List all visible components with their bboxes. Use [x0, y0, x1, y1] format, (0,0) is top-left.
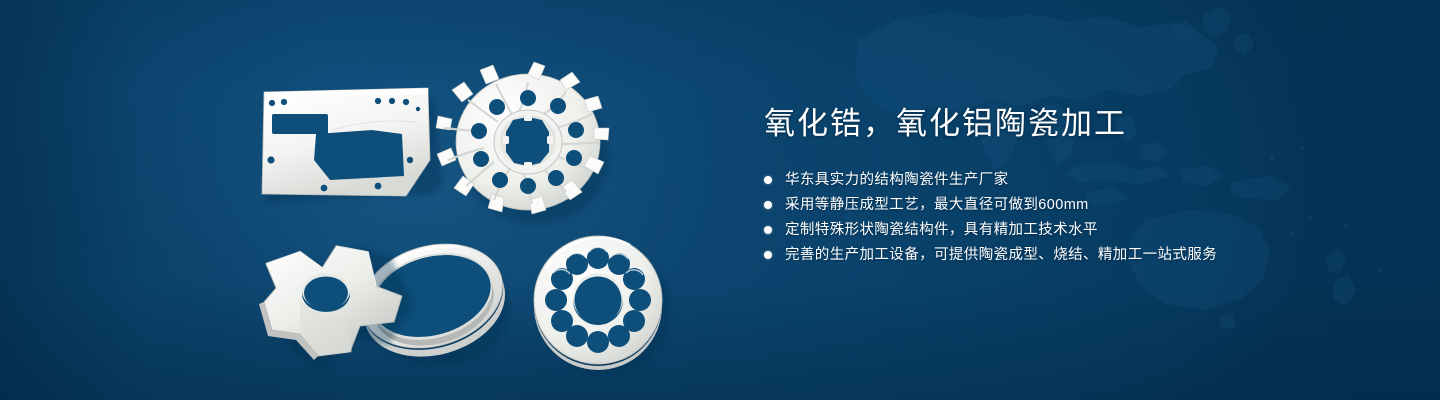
- list-item: 完善的生产加工设备，可提供陶瓷成型、烧结、精加工一站式服务: [764, 243, 1384, 266]
- list-item-label: 完善的生产加工设备，可提供陶瓷成型、烧结、精加工一站式服务: [785, 245, 1217, 265]
- hero-banner: 氧化锆，氧化铝陶瓷加工 华东具实力的结构陶瓷件生产厂家 采用等静压成型工艺，最大…: [0, 0, 1440, 400]
- list-item-label: 华东具实力的结构陶瓷件生产厂家: [785, 170, 1009, 190]
- list-item: 采用等静压成型工艺，最大直径可做到600mm: [764, 193, 1384, 216]
- page-title: 氧化锆，氧化铝陶瓷加工: [764, 104, 1384, 144]
- list-item: 华东具实力的结构陶瓷件生产厂家: [764, 168, 1384, 191]
- list-item-label: 定制特殊形状陶瓷结构件，具有精加工技术水平: [785, 220, 1098, 240]
- banner-text-block: 氧化锆，氧化铝陶瓷加工 华东具实力的结构陶瓷件生产厂家 采用等静压成型工艺，最大…: [764, 104, 1384, 268]
- filled-circle-bullet-icon: [764, 201, 772, 209]
- list-item: 定制特殊形状陶瓷结构件，具有精加工技术水平: [764, 218, 1384, 241]
- filled-circle-bullet-icon: [764, 176, 772, 184]
- feature-list: 华东具实力的结构陶瓷件生产厂家 采用等静压成型工艺，最大直径可做到600mm 定…: [764, 168, 1384, 266]
- filled-circle-bullet-icon: [764, 251, 772, 259]
- filled-circle-bullet-icon: [764, 226, 772, 234]
- list-item-label: 采用等静压成型工艺，最大直径可做到600mm: [785, 195, 1089, 215]
